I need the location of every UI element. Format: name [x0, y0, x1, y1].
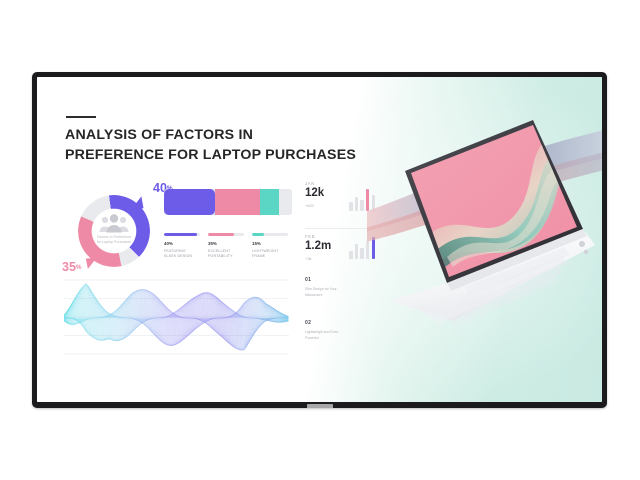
title-line-1: ANALYSIS OF FACTORS IN [65, 127, 253, 143]
legend-fill [164, 233, 197, 236]
legend-fill [208, 233, 234, 236]
donut-label-35: 35% [62, 260, 82, 274]
legend-item-2: 15%LIGHTWEIGHTFRAME [252, 233, 288, 260]
laptop-illustration [387, 105, 597, 355]
list-item-text: Lightweight and EvenPowerful [305, 330, 379, 342]
legend-track [164, 233, 200, 236]
donut-caption: Factors in Preference for Laptop Purchas… [86, 235, 142, 245]
legend-fill [252, 233, 264, 236]
legend-label: FEATURINGSLEEK DESIGN [164, 249, 200, 260]
stacked-bar-segment-2 [260, 189, 279, 215]
laptop-hero-image [377, 77, 602, 402]
laptop-port-2 [584, 250, 588, 254]
waveform-lines [64, 283, 288, 350]
numbered-list: 01Slim Design for YourManoeuvre02Lightwe… [305, 277, 379, 363]
stacked-bar-segment-3 [279, 189, 292, 215]
legend-percent: 40% [164, 241, 200, 246]
brand-logo [307, 404, 333, 409]
donut-label-35-sup: % [76, 264, 82, 271]
donut-chart: Factors in Preference for Laptop Purchas… [64, 183, 170, 283]
title-line-2: PREFERENCE FOR LAPTOP PURCHASES [65, 145, 375, 165]
legend-track [252, 233, 288, 236]
stacked-bar [164, 189, 292, 215]
screenshot-stage: ANALYSIS OF FACTORS IN PREFERENCE FOR LA… [0, 0, 640, 480]
stacked-bar-segment-0 [164, 189, 215, 215]
list-item: 02Lightweight and EvenPowerful [305, 320, 379, 342]
mini-bar [355, 197, 358, 211]
waveform-chart [64, 274, 289, 362]
title-rule [66, 116, 96, 118]
stacked-bar-block: 40%FEATURINGSLEEK DESIGN35%EXCELLENTPORT… [164, 189, 292, 260]
mini-bar [349, 202, 352, 211]
people-icon [98, 213, 130, 233]
legend-label: EXCELLENTPORTABILITY [208, 249, 244, 260]
mini-bar [360, 248, 363, 259]
legend-item-1: 35%EXCELLENTPORTABILITY [208, 233, 244, 260]
donut-label-35-value: 35 [62, 260, 76, 274]
waveform-svg [64, 274, 289, 362]
legend-percent: 35% [208, 241, 244, 246]
legend-percent: 15% [252, 241, 288, 246]
monitor-screen: ANALYSIS OF FACTORS IN PREFERENCE FOR LA… [37, 77, 602, 402]
donut-caption-line-2: for Laptop Purchases [86, 240, 142, 245]
legend-item-0: 40%FEATURINGSLEEK DESIGN [164, 233, 200, 260]
list-item-text: Slim Design for YourManoeuvre [305, 287, 379, 299]
mini-bar [355, 244, 358, 259]
mini-bar [360, 200, 363, 211]
monitor-device: ANALYSIS OF FACTORS IN PREFERENCE FOR LA… [32, 72, 607, 408]
stacked-bar-segment-1 [215, 189, 260, 215]
mini-bar [349, 251, 352, 259]
laptop-port [579, 241, 585, 247]
legend: 40%FEATURINGSLEEK DESIGN35%EXCELLENTPORT… [164, 233, 292, 260]
list-item-index: 01 [305, 277, 379, 283]
list-item-index: 02 [305, 320, 379, 326]
legend-track [208, 233, 244, 236]
list-item: 01Slim Design for YourManoeuvre [305, 277, 379, 299]
infographic-slide: ANALYSIS OF FACTORS IN PREFERENCE FOR LA… [37, 77, 393, 402]
page-title: ANALYSIS OF FACTORS IN PREFERENCE FOR LA… [65, 125, 375, 165]
legend-label: LIGHTWEIGHTFRAME [252, 249, 288, 260]
